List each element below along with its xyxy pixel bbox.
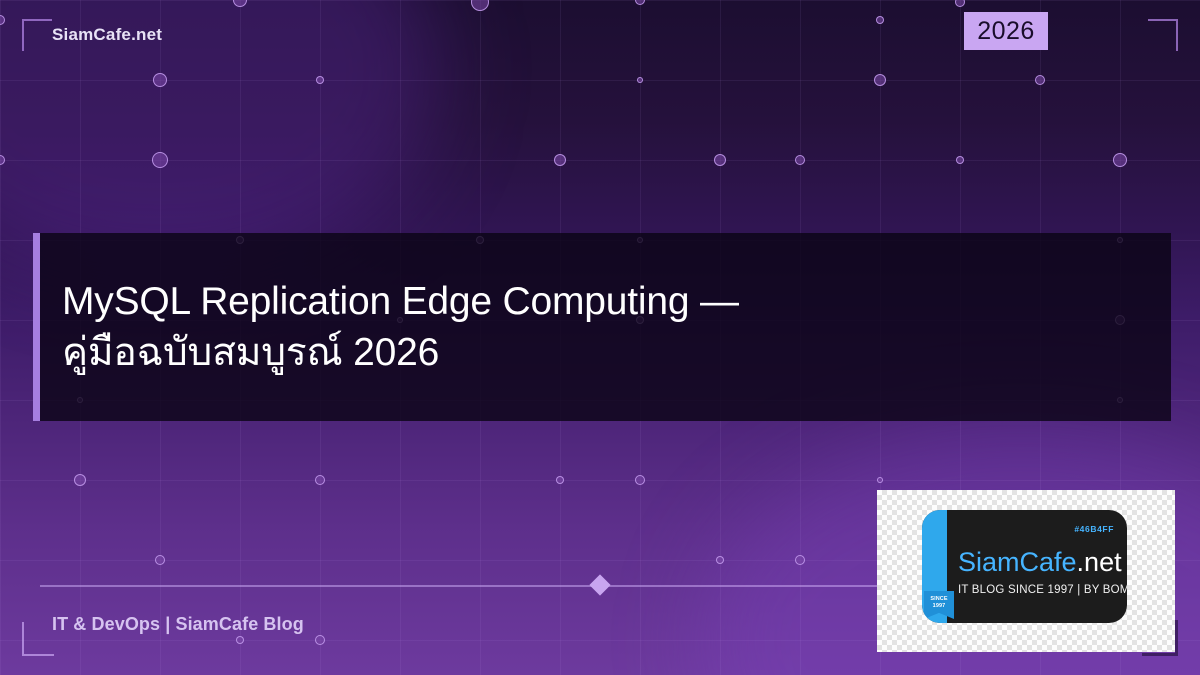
decor-dot: [637, 77, 643, 83]
decor-dot: [152, 152, 168, 168]
decor-dot: [233, 0, 247, 7]
decor-dot: [635, 475, 645, 485]
footer-caption: IT & DevOps | SiamCafe Blog: [52, 614, 304, 635]
decor-dot: [315, 635, 325, 645]
logo-badge: SINCE1997 #46B4FF SiamCafe.net IT BLOG S…: [922, 510, 1127, 623]
decor-dot: [316, 76, 324, 84]
decor-dot: [0, 15, 5, 25]
corner-bracket-top-right: [1148, 19, 1178, 51]
logo-wordmark-primary: SiamCafe: [958, 547, 1077, 577]
corner-bracket-bottom-left: [22, 622, 54, 656]
logo-wordmark: SiamCafe.net: [958, 547, 1122, 578]
decor-dot: [956, 156, 964, 164]
decor-dot: [716, 556, 724, 564]
decor-dot: [554, 154, 566, 166]
title-block: MySQL Replication Edge Computing — คู่มื…: [33, 233, 1171, 421]
hero-banner: SiamCafe.net 2026 MySQL Replication Edge…: [0, 0, 1200, 675]
decor-dot: [74, 474, 86, 486]
decor-dot: [795, 155, 805, 165]
diamond-marker-icon: [589, 574, 610, 595]
decor-dot: [955, 0, 965, 7]
logo-wordmark-secondary: .net: [1077, 547, 1122, 577]
decor-dot: [1113, 153, 1127, 167]
decor-dot: [795, 555, 805, 565]
page-title: MySQL Replication Edge Computing — คู่มื…: [40, 276, 759, 379]
decor-dot: [0, 155, 5, 165]
decor-dot: [876, 16, 884, 24]
decor-dot: [714, 154, 726, 166]
decor-dot: [635, 0, 645, 5]
decor-dot: [155, 555, 165, 565]
decor-dot: [315, 475, 325, 485]
hex-color-label: #46B4FF: [1074, 524, 1114, 534]
corner-bracket-top-left: [22, 19, 52, 51]
ribbon-line-1: SINCE: [930, 596, 947, 602]
decor-dot: [1035, 75, 1045, 85]
decor-dot: [471, 0, 489, 11]
year-badge: 2026: [964, 12, 1048, 50]
ribbon-line-2: 1997: [933, 603, 946, 609]
site-brand: SiamCafe.net: [52, 25, 162, 45]
decor-dot: [236, 636, 244, 644]
decor-dot: [556, 476, 564, 484]
decor-dot: [153, 73, 167, 87]
logo-tagline: IT BLOG SINCE 1997 | BY BOM: [958, 584, 1127, 596]
decor-dot: [874, 74, 886, 86]
logo-card: SINCE1997 #46B4FF SiamCafe.net IT BLOG S…: [877, 490, 1175, 652]
decor-dot: [877, 477, 883, 483]
